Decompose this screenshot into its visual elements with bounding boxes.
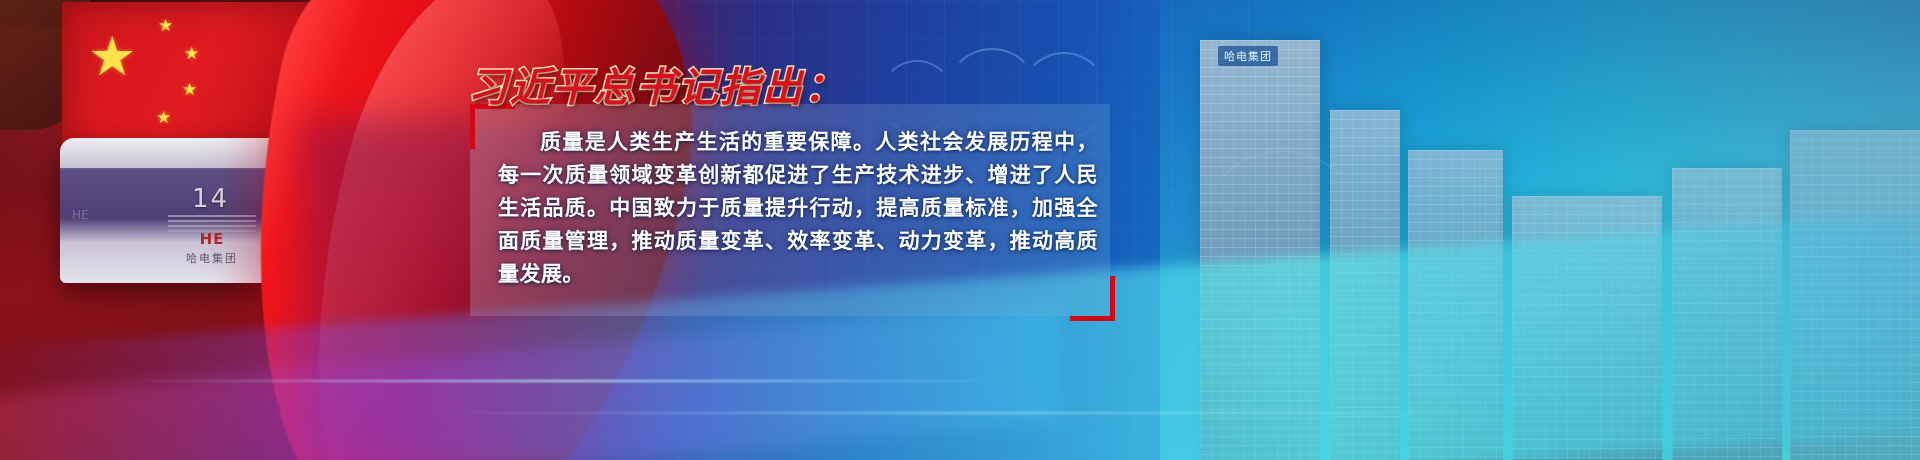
glow-line bbox=[420, 412, 1520, 414]
podium-brand-mark: HE bbox=[172, 230, 252, 248]
banner-image: 哈电集团 ★ ★ ★ ★ ★ 14 HE 哈电集团 HE 中国东方 bbox=[0, 0, 1920, 460]
podium-brand-text: 哈电集团 bbox=[156, 250, 268, 266]
flag-star-small: ★ bbox=[158, 18, 173, 35]
quote-paragraph: 质量是人类生产生活的重要保障。人类社会发展历程中，每一次质量领域变革创新都促进了… bbox=[498, 126, 1098, 291]
quote-title: 习近平总书记指出： bbox=[468, 55, 828, 107]
flag-star-large: ★ bbox=[88, 30, 136, 84]
podium-left-mark: HE bbox=[72, 208, 89, 222]
flag-star-small: ★ bbox=[182, 82, 197, 99]
flag-star-small: ★ bbox=[156, 110, 171, 127]
quote-body: 质量是人类生产生活的重要保障。人类社会发展历程中，每一次质量领域变革创新都促进了… bbox=[498, 126, 1098, 291]
flag-star-small: ★ bbox=[184, 46, 199, 63]
glow-line bbox=[120, 380, 1020, 382]
podium-number: 14 bbox=[192, 184, 229, 214]
